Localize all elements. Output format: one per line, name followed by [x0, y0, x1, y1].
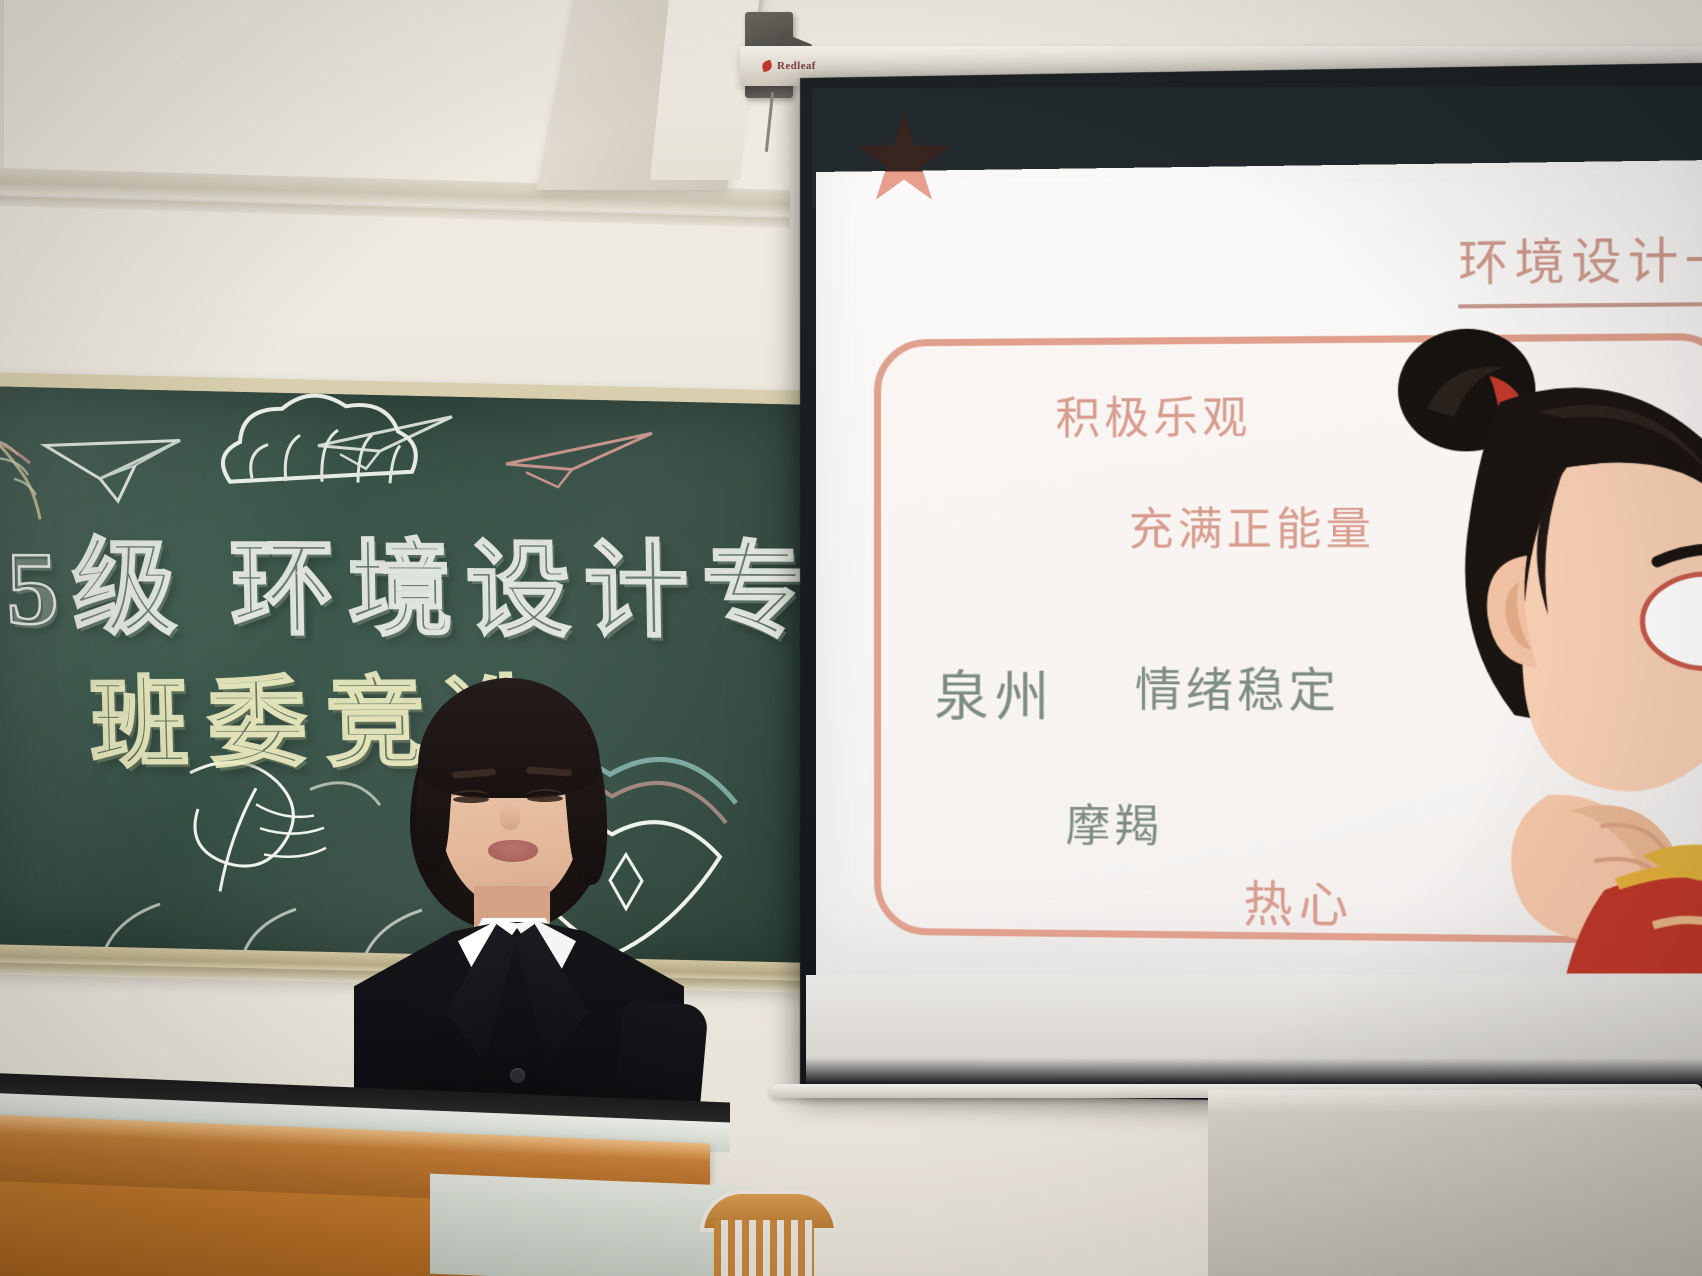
classroom-photo-scene: Redleaf	[0, 0, 1702, 1276]
slide-keyword-4: 情绪稳定	[1135, 653, 1340, 721]
slide-keyword-1: 积极乐观	[1055, 381, 1251, 447]
presenter-blazer-button	[510, 1068, 525, 1083]
paper-plane-icon	[500, 420, 660, 494]
presenter-hair-front	[418, 678, 600, 798]
screen-brand: Redleaf	[762, 56, 892, 76]
chair-slats	[714, 1220, 814, 1276]
slide-keyword-6: 热心	[1243, 864, 1354, 936]
leaf-icon	[761, 60, 774, 73]
slide-keyword-3: 泉州	[934, 652, 1055, 732]
right-wall-top	[1208, 1090, 1702, 1112]
blackboard-heading-line1: 25级 环境设计专业	[0, 502, 804, 658]
presenter	[318, 672, 718, 1142]
presentation-slide: 环境设计一 积极乐观 充满正能量 泉州 情绪稳定 摩羯 热心	[816, 160, 1702, 992]
right-wall	[1208, 1090, 1702, 1276]
slide-keyword-5: 摩羯	[1066, 790, 1164, 855]
cartoon-girl-illustration	[1344, 312, 1702, 992]
screen-brand-label: Redleaf	[777, 60, 816, 72]
cartoon-character-image	[1344, 312, 1702, 992]
slide-title: 环境设计一	[1458, 219, 1702, 308]
presenter-lash-right	[527, 795, 563, 802]
slide-keyword-2: 充满正能量	[1129, 492, 1376, 557]
presenter-mouth	[488, 840, 538, 862]
presenter-lash-left	[453, 796, 489, 803]
screen-lower-blank	[806, 973, 1702, 1095]
presenter-nose	[500, 804, 520, 830]
cloud-icon	[200, 386, 430, 510]
wooden-chair	[700, 1190, 840, 1276]
